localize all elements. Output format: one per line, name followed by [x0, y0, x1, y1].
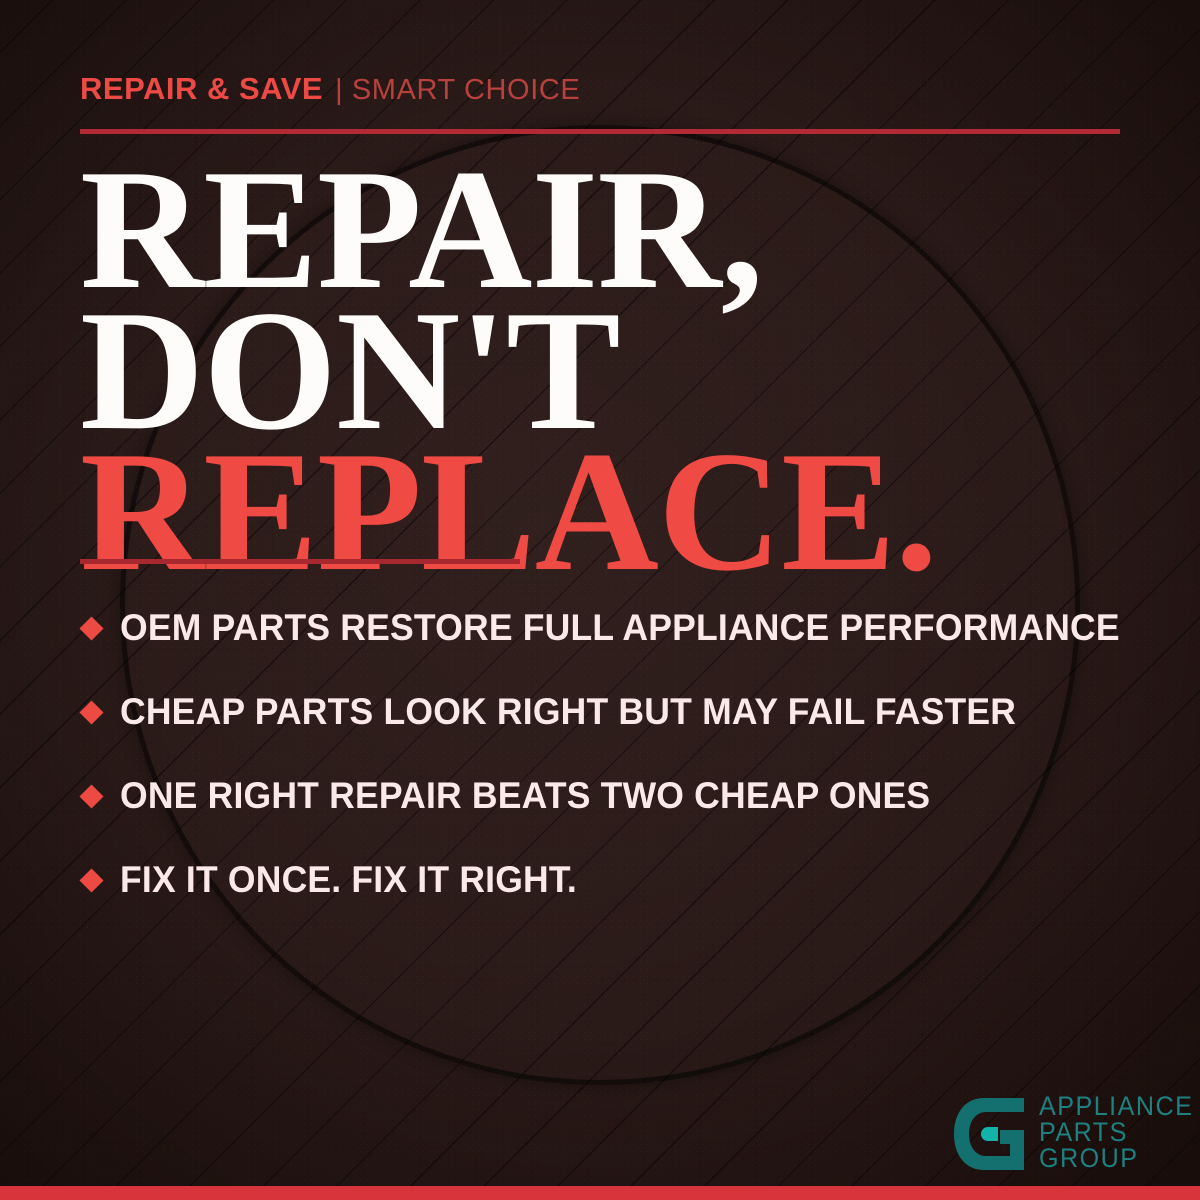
brand-logo-line-2: PARTS — [1039, 1119, 1193, 1145]
list-item-label: FIX IT ONCE. FIX IT RIGHT. — [120, 859, 577, 901]
list-item-label: OEM PARTS RESTORE FULL APPLIANCE PERFORM… — [120, 607, 1120, 649]
page-title: REPAIR, DON'T REPLACE. — [80, 160, 937, 583]
diamond-bullet-icon — [79, 784, 103, 808]
brand-logo-line-3: GROUP — [1039, 1145, 1193, 1171]
kicker-sub-label: | SMART CHOICE — [335, 74, 580, 106]
diamond-bullet-icon — [79, 868, 103, 892]
g-monogram-icon — [950, 1094, 1028, 1174]
kicker-main-label: REPAIR & SAVE — [80, 71, 323, 106]
poster-content: REPAIR & SAVE| SMART CHOICE REPAIR, DON'… — [0, 0, 1200, 1200]
brand-logo-wordmark: APPLIANCE PARTS GROUP — [1039, 1092, 1193, 1172]
bottom-accent-stripe — [0, 1186, 1200, 1200]
list-item: CHEAP PARTS LOOK RIGHT BUT MAY FAIL FAST… — [80, 670, 1150, 754]
diamond-bullet-icon — [79, 700, 103, 724]
poster-canvas: REPAIR & SAVE| SMART CHOICE REPAIR, DON'… — [0, 0, 1200, 1200]
kicker-row: REPAIR & SAVE| SMART CHOICE — [80, 73, 580, 105]
headline-divider-rule — [80, 559, 520, 564]
header-divider-rule — [80, 129, 1120, 134]
list-item-label: ONE RIGHT REPAIR BEATS TWO CHEAP ONES — [120, 775, 930, 817]
brand-logo: APPLIANCE PARTS GROUP — [950, 1092, 1200, 1174]
list-item-label: CHEAP PARTS LOOK RIGHT BUT MAY FAIL FAST… — [120, 691, 1016, 733]
benefits-list: OEM PARTS RESTORE FULL APPLIANCE PERFORM… — [80, 586, 1150, 922]
list-item: FIX IT ONCE. FIX IT RIGHT. — [80, 838, 1150, 922]
list-item: ONE RIGHT REPAIR BEATS TWO CHEAP ONES — [80, 754, 1150, 838]
diamond-bullet-icon — [79, 616, 103, 640]
list-item: OEM PARTS RESTORE FULL APPLIANCE PERFORM… — [80, 586, 1150, 670]
brand-logo-line-1: APPLIANCE — [1039, 1093, 1193, 1119]
